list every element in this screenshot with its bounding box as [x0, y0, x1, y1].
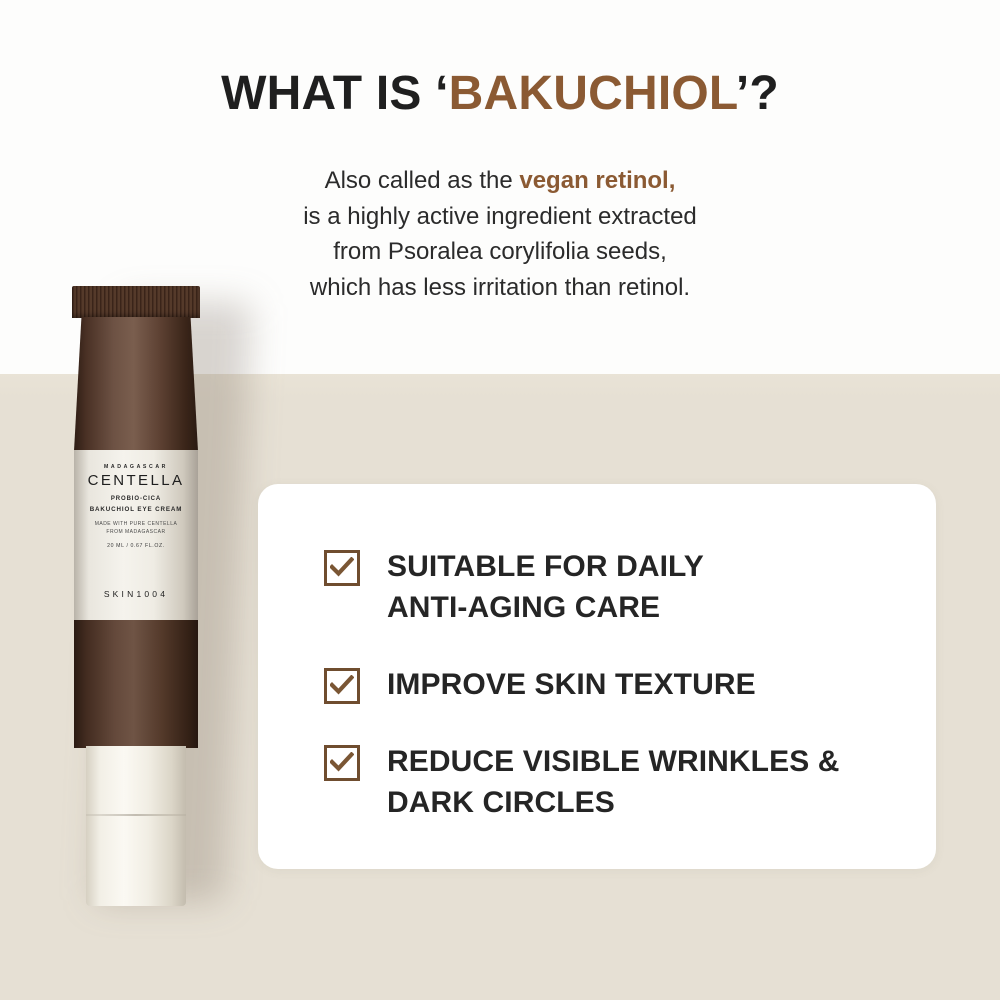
subtitle-highlight: vegan retinol,: [519, 167, 675, 194]
benefit-label: REDUCE VISIBLE WRINKLES & DARK CIRCLES: [387, 741, 840, 823]
subtitle-line-3: from Psoralea corylifolia seeds,: [0, 234, 1000, 270]
title-highlight: BAKUCHIOL: [449, 67, 736, 120]
checkbox-checked-icon: [324, 668, 360, 704]
tube-cap: [86, 746, 186, 906]
tube-label-text: MADAGASCAR CENTELLA PROBIO-CICA BAKUCHIO…: [74, 450, 198, 620]
benefit-label: SUITABLE FOR DAILY ANTI-AGING CARE: [387, 546, 704, 628]
label-product-name: CENTELLA: [74, 472, 198, 489]
benefit-label: IMPROVE SKIN TEXTURE: [387, 664, 756, 705]
label-made-line-1: MADE WITH PURE CENTELLA: [74, 521, 198, 527]
label-volume: 20 ML / 0.67 FL.OZ.: [74, 543, 198, 549]
label-made-line-2: FROM MADAGASCAR: [74, 529, 198, 535]
product-info-banner: WHAT IS ‘BAKUCHIOL’? Also called as the …: [0, 0, 1000, 1000]
subtitle-line-2: is a highly active ingredient extracted: [0, 199, 1000, 235]
checkbox-checked-icon: [324, 745, 360, 781]
label-brand: SKIN1004: [74, 589, 198, 599]
tube-body-upper: [74, 317, 198, 451]
label-product-type: BAKUCHIOL EYE CREAM: [74, 506, 198, 513]
subtitle-line-1-text: Also called as the: [325, 167, 520, 194]
tube-cap-seam: [86, 814, 186, 816]
tube-body-lower: [74, 620, 198, 748]
benefits-card: SUITABLE FOR DAILY ANTI-AGING CARE IMPRO…: [258, 484, 936, 869]
subtitle-line-1: Also called as the vegan retinol,: [0, 163, 1000, 199]
title-prefix: WHAT IS ‘: [221, 67, 449, 120]
list-item: SUITABLE FOR DAILY ANTI-AGING CARE: [324, 546, 904, 628]
title-suffix: ’?: [736, 67, 779, 120]
list-item: REDUCE VISIBLE WRINKLES & DARK CIRCLES: [324, 741, 904, 823]
label-origin: MADAGASCAR: [74, 464, 198, 470]
page-title: WHAT IS ‘BAKUCHIOL’?: [0, 66, 1000, 121]
benefits-list: SUITABLE FOR DAILY ANTI-AGING CARE IMPRO…: [324, 546, 904, 823]
tube-label-panel: MADAGASCAR CENTELLA PROBIO-CICA BAKUCHIO…: [74, 450, 198, 620]
label-probio-cica: PROBIO-CICA: [74, 496, 198, 502]
checkbox-checked-icon: [324, 550, 360, 586]
tube-crimp-seal: [72, 286, 200, 318]
list-item: IMPROVE SKIN TEXTURE: [324, 664, 904, 705]
product-image: MADAGASCAR CENTELLA PROBIO-CICA BAKUCHIO…: [60, 280, 240, 920]
